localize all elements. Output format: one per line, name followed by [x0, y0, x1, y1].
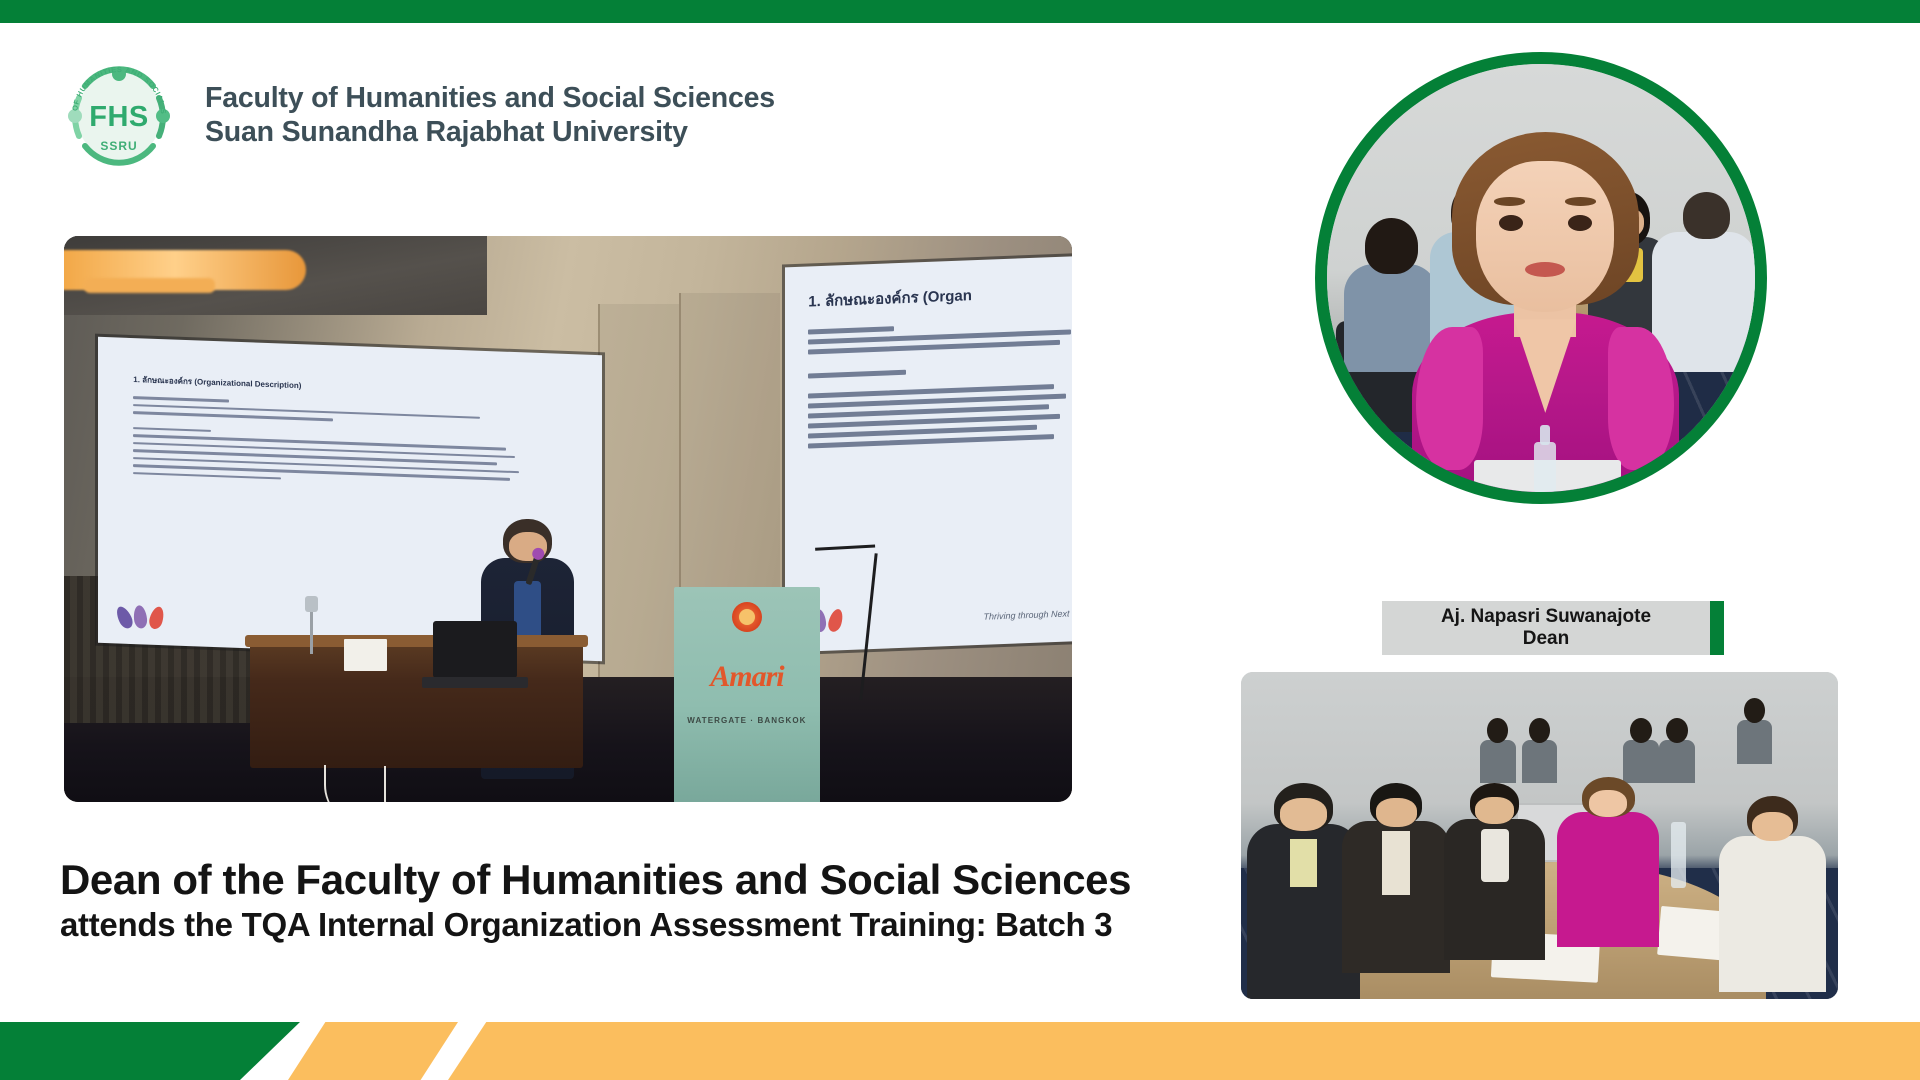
ceiling-light-strip-2 — [84, 278, 215, 293]
group-member — [1719, 796, 1826, 992]
dean-role: Dean — [1523, 628, 1569, 650]
badge-accent-bar — [1710, 601, 1724, 655]
svg-text:FHS: FHS — [89, 101, 149, 133]
water-bottle — [1534, 442, 1556, 492]
header-line-faculty: Faculty of Humanities and Social Science… — [205, 82, 775, 116]
dean-name: Aj. Napasri Suwanajote — [1441, 606, 1651, 628]
background-person — [1522, 718, 1558, 783]
background-person — [1344, 218, 1438, 372]
header-line-university: Suan Sunandha Rajabhat University — [205, 116, 775, 150]
caption-block: Dean of the Faculty of Humanities and So… — [60, 856, 1240, 945]
group-member — [1342, 783, 1449, 973]
fhs-logo: FACULTY OF HUMANITIES AND SOCIAL SCIENCE… — [55, 50, 183, 178]
background-person — [1623, 718, 1659, 783]
dean-name-badge: Aj. Napasri Suwanajote Dean — [1382, 601, 1710, 655]
projection-screen-right: 1. ลักษณะองค์กร (Organ Thriving through … — [785, 255, 1072, 653]
bottom-decorative-bar — [0, 1022, 1920, 1080]
main-presentation-photo: 1. ลักษณะองค์กร (Organizational Descript… — [64, 236, 1072, 802]
bottom-bar-yellow-stripe — [288, 1022, 458, 1080]
header-title-block: Faculty of Humanities and Social Science… — [205, 78, 775, 150]
background-person — [1652, 192, 1755, 372]
desk-microphone — [310, 608, 313, 654]
bottom-bar-green-segment — [0, 1022, 300, 1080]
group-member-dean — [1557, 777, 1658, 947]
bottom-bar-yellow-main — [448, 1022, 1920, 1080]
presenter-table — [250, 644, 583, 769]
cable — [384, 766, 444, 802]
cable — [324, 765, 364, 802]
group-member — [1444, 783, 1545, 960]
background-person — [1737, 698, 1773, 763]
portrait-scene — [1327, 64, 1755, 492]
page-header: FACULTY OF HUMANITIES AND SOCIAL SCIENCE… — [55, 50, 775, 178]
caption-line-1: Dean of the Faculty of Humanities and So… — [60, 856, 1240, 903]
name-card — [344, 639, 387, 671]
fhs-logo-icon: FACULTY OF HUMANITIES AND SOCIAL SCIENCE… — [55, 50, 183, 178]
dean-portrait-photo — [1315, 52, 1767, 504]
caption-line-2: attends the TQA Internal Organization As… — [60, 906, 1240, 945]
deck-leaf-logo — [123, 602, 169, 630]
svg-text:SSRU: SSRU — [100, 139, 137, 153]
dean-figure — [1434, 132, 1657, 492]
background-person — [1480, 718, 1516, 783]
top-green-band — [0, 0, 1920, 23]
amari-podium: Amari WATERGATE · BANGKOK — [674, 587, 820, 802]
water-bottle — [1671, 822, 1687, 887]
laptop — [433, 621, 516, 678]
wall-panel — [598, 304, 679, 723]
conference-room-scene: 1. ลักษณะองค์กร (Organizational Descript… — [64, 236, 1072, 802]
amari-location: WATERGATE · BANGKOK — [674, 716, 820, 725]
amari-wordmark: Amari — [674, 660, 820, 694]
background-person — [1659, 718, 1695, 783]
amari-sun-icon — [732, 602, 762, 632]
group-table-photo: 4 — [1241, 672, 1838, 999]
